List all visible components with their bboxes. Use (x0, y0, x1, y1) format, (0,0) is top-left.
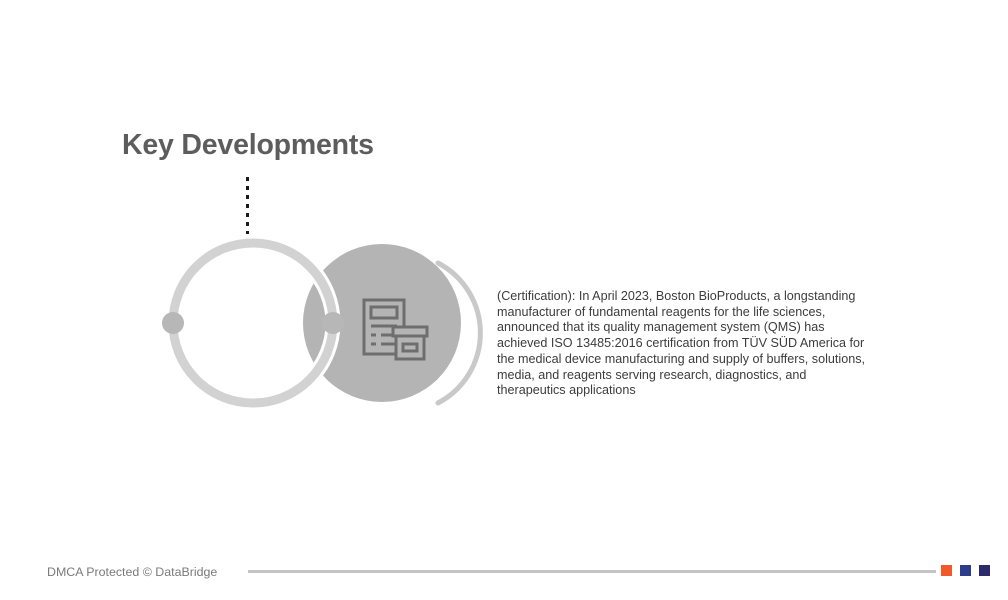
body-paragraph: (Certification): In April 2023, Boston B… (497, 289, 869, 399)
circles-graphic (150, 232, 490, 422)
footer-square-marks (941, 565, 990, 576)
page-title: Key Developments (122, 128, 374, 162)
ring-dot-left (162, 312, 184, 334)
ring-dot-right (322, 312, 344, 334)
footer-copyright: DMCA Protected © DataBridge (47, 565, 217, 579)
dotted-connector (246, 177, 249, 234)
square-navy (979, 565, 990, 576)
slide-canvas: Key Developments (0, 0, 1008, 600)
square-blue (960, 565, 971, 576)
square-orange (941, 565, 952, 576)
footer-divider (248, 570, 936, 573)
